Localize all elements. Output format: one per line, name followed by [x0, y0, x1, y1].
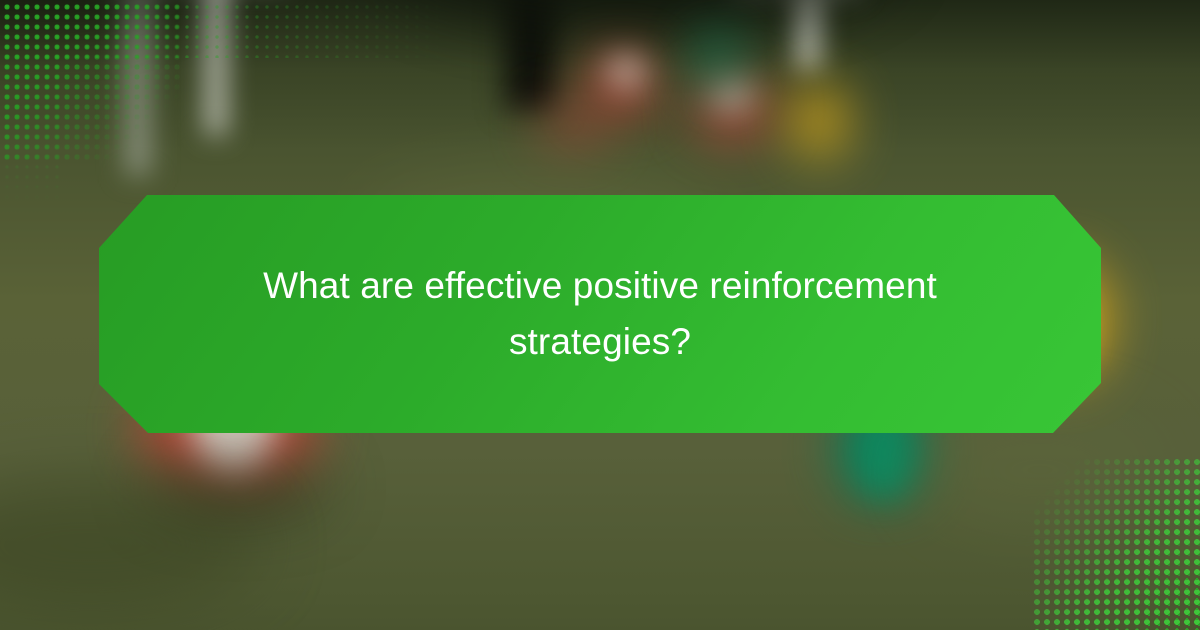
dark-pole	[505, 0, 557, 110]
soccer-ball-upper-left-highlight	[608, 58, 644, 86]
question-text: What are effective positive reinforcemen…	[220, 258, 980, 370]
far-post-white	[795, 0, 821, 70]
soccer-ball-left-edge	[538, 105, 608, 147]
question-card-canvas: What are effective positive reinforcemen…	[0, 0, 1200, 630]
training-cone-yellow-upper	[792, 85, 846, 157]
question-banner: What are effective positive reinforcemen…	[99, 195, 1101, 433]
goal-post-right-upright	[205, 0, 227, 135]
goal-post-left-upright	[125, 0, 151, 175]
training-cone-teal-upper	[696, 32, 742, 92]
shade-patch-left	[0, 0, 200, 10]
